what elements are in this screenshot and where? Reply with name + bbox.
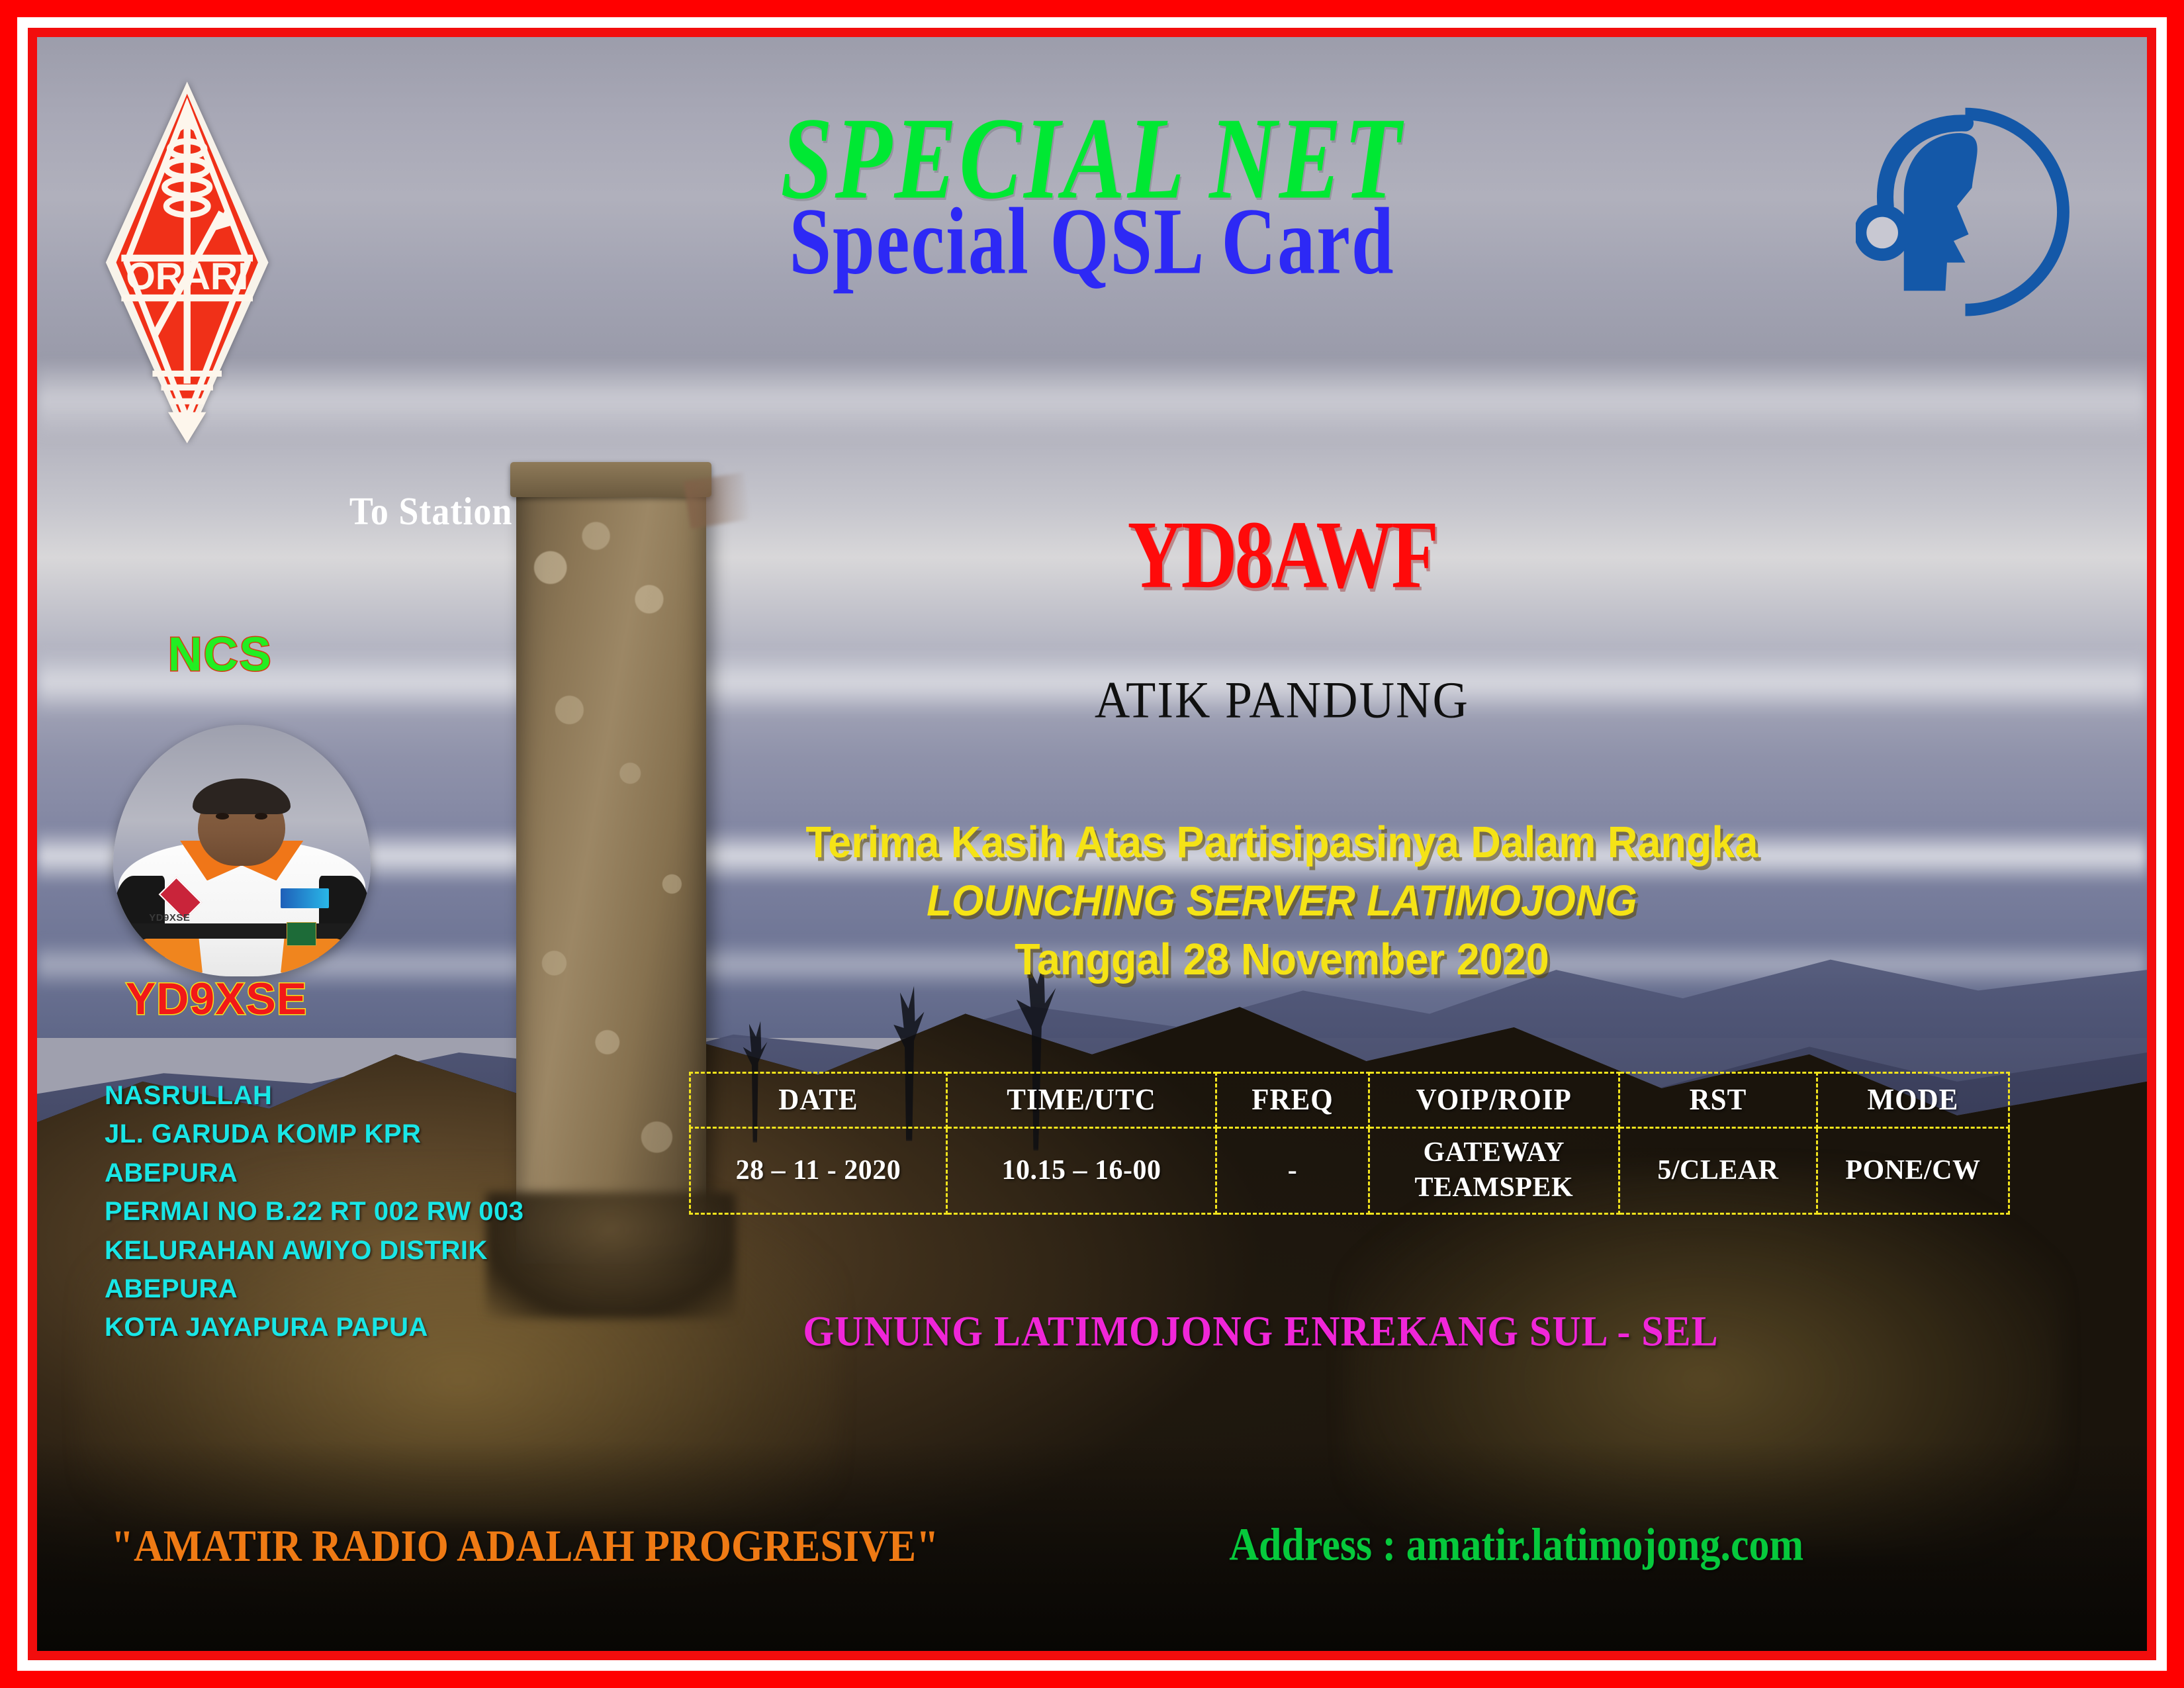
cell-date: 28 – 11 - 2020: [690, 1127, 947, 1213]
address-line: ABEPURA: [105, 1154, 523, 1192]
location-text: GUNUNG LATIMOJONG ENREKANG SUL - SEL: [628, 1307, 1894, 1356]
address-line: NASRULLAH: [105, 1076, 523, 1115]
page-subtitle: Special QSL Card: [69, 194, 2115, 289]
card-background-photo: ORARI: [37, 37, 2147, 1651]
avatar-uniform-callsign: YD9XSE: [149, 912, 190, 923]
cell-time: 10.15 – 16-00: [946, 1127, 1216, 1213]
operator-name: ATIK PANDUNG: [797, 675, 1767, 726]
footer-motto: "AMATIR RADIO ADALAH PROGRESIVE": [111, 1521, 939, 1573]
avatar-eye-left: [216, 813, 228, 820]
thanks-line-3: Tanggal 28 November 2020: [670, 929, 1893, 992]
card-content-layer: ORARI: [37, 37, 2147, 1651]
cell-rst: 5/CLEAR: [1619, 1127, 1817, 1213]
card-white-frame: ORARI: [17, 17, 2167, 1671]
column-header-freq: FREQ: [1216, 1071, 1369, 1129]
cell-mode: PONE/CW: [1817, 1127, 2009, 1213]
mailing-address: NASRULLAH JL. GARUDA KOMP KPR ABEPURA PE…: [105, 1076, 523, 1347]
column-header-rst: RST: [1619, 1071, 1817, 1129]
cell-voip-line-1: GATEWAY: [1371, 1135, 1617, 1170]
avatar-belt: [123, 923, 360, 939]
cell-voip-line-2: TEAMSPEK: [1371, 1170, 1617, 1205]
address-line: PERMAI NO B.22 RT 002 RW 003: [105, 1192, 523, 1231]
avatar-shoulder-patch: [281, 888, 330, 908]
thanks-line-2: LOUNCHING SERVER LATIMOJONG: [670, 870, 1893, 932]
address-line: KOTA JAYAPURA PAPUA: [105, 1308, 523, 1346]
qso-log-table: DATE TIME/UTC FREQ VOIP/ROIP RST MODE 28…: [689, 1072, 2010, 1215]
column-header-date: DATE: [690, 1071, 947, 1129]
avatar-eye-right: [255, 813, 267, 820]
qsl-card: ORARI: [0, 0, 2184, 1688]
avatar: YD9XSE: [113, 725, 371, 976]
column-header-mode: MODE: [1817, 1071, 2009, 1129]
ncs-callsign: YD9XSE: [126, 973, 307, 1025]
card-inner-red-frame: ORARI: [28, 28, 2156, 1660]
cell-voip: GATEWAY TEAMSPEK: [1369, 1127, 1619, 1213]
address-line: ABEPURA: [105, 1270, 523, 1308]
address-line: JL. GARUDA KOMP KPR: [105, 1115, 523, 1153]
ncs-label: NCS: [168, 628, 273, 682]
table-header-row: DATE TIME/UTC FREQ VOIP/ROIP RST MODE: [690, 1072, 2009, 1127]
to-station-label: To Station: [349, 489, 513, 534]
thanks-message: Terima Kasih Atas Partisipasinya Dalam R…: [670, 814, 1893, 990]
avatar-id-card: [287, 922, 316, 946]
address-line: KELURAHAN AWIYO DISTRIK: [105, 1231, 523, 1270]
cell-freq: -: [1216, 1127, 1369, 1213]
column-header-time: TIME/UTC: [946, 1071, 1216, 1129]
thanks-line-1: Terima Kasih Atas Partisipasinya Dalam R…: [670, 812, 1893, 874]
column-header-voip: VOIP/ROIP: [1369, 1071, 1619, 1129]
station-callsign: YD8AWF: [910, 506, 1655, 602]
table-row: 28 – 11 - 2020 10.15 – 16-00 - GATEWAY T…: [690, 1127, 2009, 1213]
footer-website-address: Address : amatir.latimojong.com: [1229, 1519, 1803, 1572]
